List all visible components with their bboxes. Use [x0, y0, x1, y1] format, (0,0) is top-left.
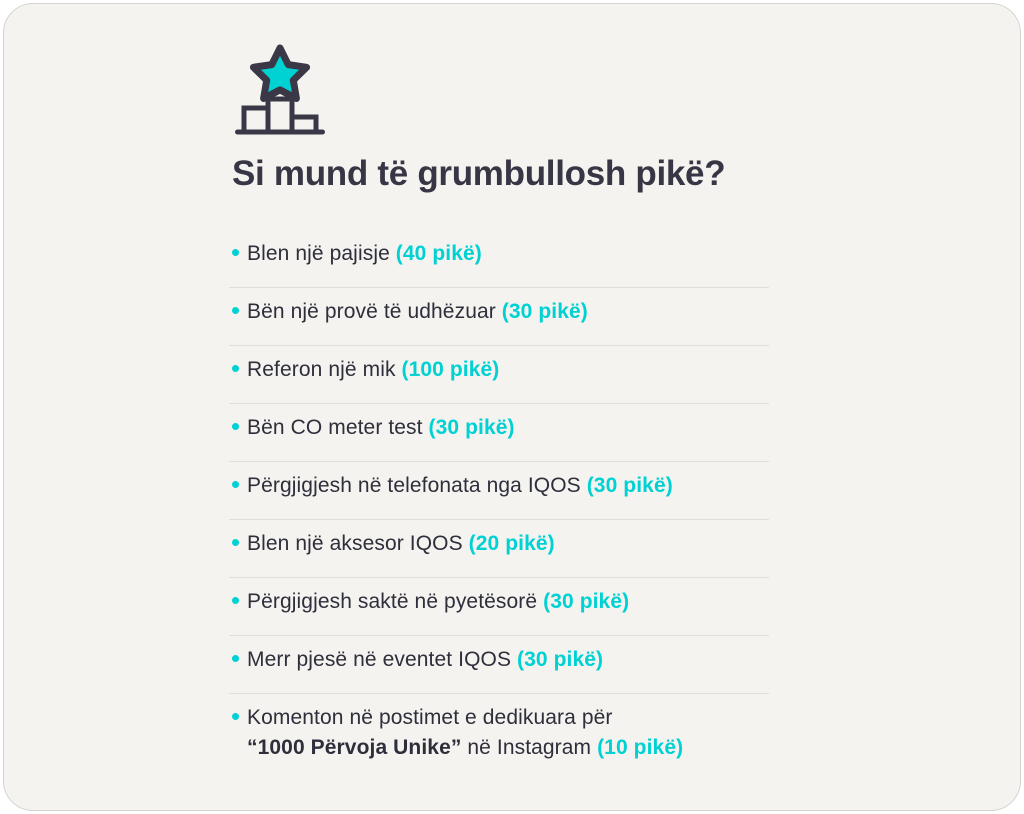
list-item-text: Blen një pajisje (40 pikë) [247, 239, 482, 269]
list-item-points: (30 pikë) [502, 300, 588, 323]
list-item: Bën CO meter test (30 pikë) [229, 404, 769, 462]
list-item-points: (40 pikë) [396, 242, 482, 265]
bullet-icon [232, 597, 239, 604]
list-item: Blen një pajisje (40 pikë) [229, 230, 769, 288]
list-item-label: Merr pjesë në eventet IQOS [247, 648, 517, 671]
list-item-text: Referon një mik (100 pikë) [247, 355, 499, 385]
card-content: Si mund të grumbullosh pikë? Blen një pa… [229, 44, 789, 771]
list-item: Referon një mik (100 pikë) [229, 346, 769, 404]
bullet-icon [232, 655, 239, 662]
page-title: Si mund të grumbullosh pikë? [232, 154, 789, 194]
list-item-text: Përgjigjesh në telefonata nga IQOS (30 p… [247, 471, 673, 501]
list-item-points: (100 pikë) [402, 358, 500, 381]
list-item-label: Bën një provë të udhëzuar [247, 300, 502, 323]
list-item-label: Blen një pajisje [247, 242, 396, 265]
list-item-text: Bën CO meter test (30 pikë) [247, 413, 515, 443]
list-item-text: Blen një aksesor IQOS (20 pikë) [247, 529, 555, 559]
bullet-icon [232, 423, 239, 430]
list-item-text: Komenton në postimet e dedikuara për“100… [247, 703, 683, 763]
list-item-label: Referon një mik [247, 358, 402, 381]
list-item-points: (30 pikë) [517, 648, 603, 671]
bullet-icon [232, 249, 239, 256]
list-item: Merr pjesë në eventet IQOS (30 pikë) [229, 636, 769, 694]
list-item-label: Blen një aksesor IQOS [247, 532, 469, 555]
list-item-label: Bën CO meter test [247, 416, 429, 439]
list-item-emphasis: “1000 Përvoja Unike” [247, 736, 461, 759]
list-item-text: Merr pjesë në eventet IQOS (30 pikë) [247, 645, 603, 675]
points-card: Si mund të grumbullosh pikë? Blen një pa… [3, 3, 1021, 811]
list-item: Komenton në postimet e dedikuara për“100… [229, 694, 769, 771]
list-item-points: (30 pikë) [543, 590, 629, 613]
list-item-points: (10 pikë) [597, 736, 683, 759]
list-item: Përgjigjesh saktë në pyetësorë (30 pikë) [229, 578, 769, 636]
bullet-icon [232, 365, 239, 372]
points-list: Blen një pajisje (40 pikë) Bën një provë… [229, 230, 769, 771]
list-item: Bën një provë të udhëzuar (30 pikë) [229, 288, 769, 346]
list-item: Blen një aksesor IQOS (20 pikë) [229, 520, 769, 578]
bullet-icon [232, 481, 239, 488]
list-item-points: (30 pikë) [587, 474, 673, 497]
list-item-points: (30 pikë) [429, 416, 515, 439]
list-item-label: Përgjigjesh në telefonata nga IQOS [247, 474, 587, 497]
list-item-text: Përgjigjesh saktë në pyetësorë (30 pikë) [247, 587, 629, 617]
list-item-label: Përgjigjesh saktë në pyetësorë [247, 590, 543, 613]
bullet-icon [232, 539, 239, 546]
list-item-label: Komenton në postimet e dedikuara për [247, 706, 613, 729]
podium-star-icon [232, 44, 328, 136]
list-item-text: Bën një provë të udhëzuar (30 pikë) [247, 297, 588, 327]
bullet-icon [232, 307, 239, 314]
list-item: Përgjigjesh në telefonata nga IQOS (30 p… [229, 462, 769, 520]
list-item-label-continued: në Instagram [461, 736, 597, 759]
bullet-icon [232, 713, 239, 720]
list-item-points: (20 pikë) [469, 532, 555, 555]
